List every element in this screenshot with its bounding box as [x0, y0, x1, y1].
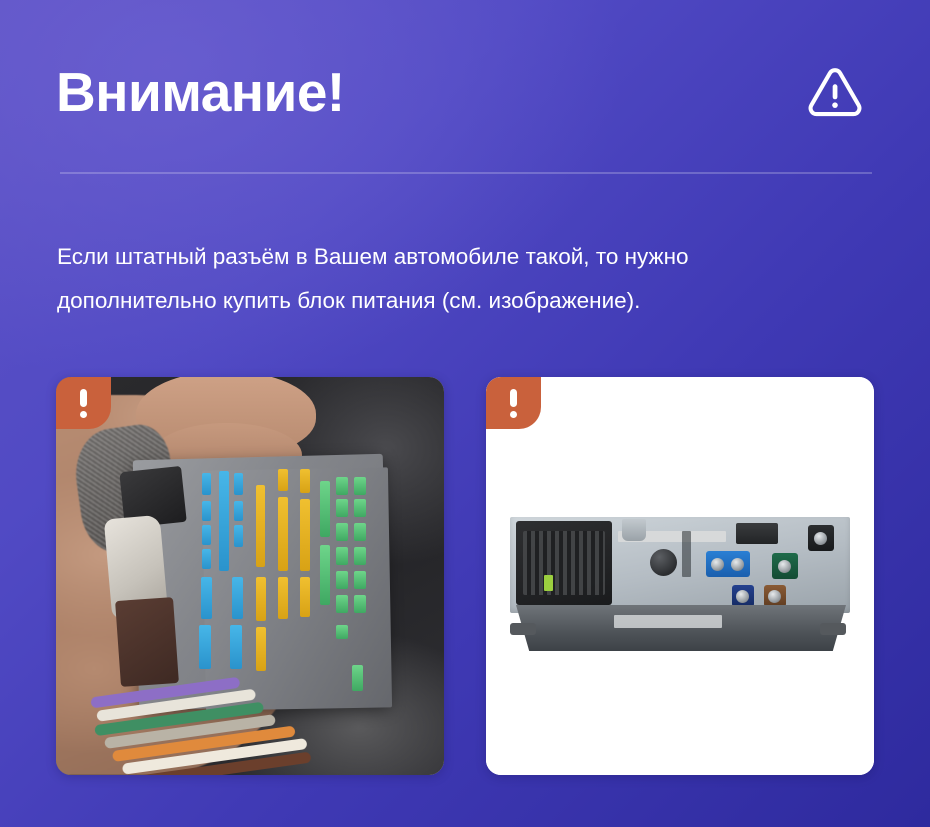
pin-blue — [202, 549, 211, 569]
fakra-green — [772, 553, 798, 579]
pin-yellow — [300, 577, 310, 617]
pin-yellow — [300, 499, 310, 571]
fakra-brown — [764, 585, 786, 607]
pin-green — [354, 477, 366, 495]
power-supply-card[interactable] — [486, 377, 874, 775]
fakra-barrel — [768, 590, 781, 603]
page-title: Внимание! — [56, 65, 345, 120]
pin-blue — [234, 501, 243, 521]
pin-green — [336, 477, 348, 495]
pin-blue — [232, 577, 243, 619]
pin-green — [354, 523, 366, 541]
pin-green — [354, 499, 366, 517]
unit-mount-tab — [622, 519, 646, 541]
pin-green — [320, 481, 330, 537]
green-fuse — [544, 575, 553, 591]
unit-front-label — [614, 615, 722, 628]
power-supply-photo — [486, 377, 874, 775]
pin-green — [336, 523, 348, 541]
pin-green — [352, 665, 363, 691]
warning-slide: Внимание! Если штатный разъём в Вашем ав… — [0, 0, 930, 827]
warning-triangle-icon — [804, 61, 866, 123]
exclamation-dot — [80, 411, 87, 418]
pin-green — [320, 545, 330, 605]
pin-green — [354, 547, 366, 565]
stock-connector-card[interactable] — [56, 377, 444, 775]
pin-blue — [202, 473, 211, 495]
pin-blue — [219, 471, 229, 571]
pin-blue — [234, 525, 243, 547]
pin-green — [336, 625, 348, 639]
exclamation-icon — [80, 389, 87, 407]
round-knob — [650, 549, 677, 576]
power-supply-unit — [510, 517, 850, 651]
body-text-line-2: дополнительно купить блок питания (см. и… — [57, 279, 873, 323]
connector-slots — [523, 531, 605, 595]
pin-yellow — [256, 485, 265, 567]
fakra-barrel — [778, 560, 791, 573]
rca-pair-connector — [736, 523, 778, 544]
pin-yellow — [300, 469, 310, 493]
pin-yellow — [278, 469, 288, 491]
body-text-line-1: Если штатный разъём в Вашем автомобиле т… — [57, 235, 873, 279]
body-text: Если штатный разъём в Вашем автомобиле т… — [57, 235, 873, 323]
side-marking — [682, 531, 691, 577]
fakra-blue-pair — [706, 551, 750, 577]
mount-foot — [820, 623, 846, 635]
pin-green — [336, 595, 348, 613]
image-cards — [56, 377, 874, 775]
pin-yellow — [278, 577, 288, 619]
exclamation-dot — [510, 411, 517, 418]
pin-yellow — [278, 497, 288, 571]
mount-foot — [510, 623, 536, 635]
antenna-black-connector — [808, 525, 834, 551]
pin-blue — [234, 473, 243, 495]
pin-green — [354, 595, 366, 613]
warning-badge — [56, 377, 111, 429]
unit-front-face — [516, 605, 846, 651]
pin-blue — [230, 625, 242, 669]
header-divider — [60, 172, 872, 174]
pin-blue — [202, 525, 211, 545]
stock-connector-photo — [56, 377, 444, 775]
main-black-connector — [516, 521, 612, 605]
fakra-barrel — [814, 532, 827, 545]
pin-green — [336, 571, 348, 589]
connector-brown-cap — [115, 597, 179, 687]
header: Внимание! — [56, 52, 874, 132]
fakra-barrel — [711, 558, 724, 571]
pin-blue — [202, 501, 211, 521]
pin-green — [336, 499, 348, 517]
pin-yellow — [256, 577, 266, 621]
pin-blue — [199, 625, 211, 669]
warning-badge — [486, 377, 541, 429]
pin-blue — [201, 577, 212, 619]
exclamation-icon — [510, 389, 517, 407]
fakra-barrel — [736, 590, 749, 603]
pin-green — [354, 571, 366, 589]
fakra-navy — [732, 585, 754, 607]
pin-green — [336, 547, 348, 565]
fakra-barrel — [731, 558, 744, 571]
